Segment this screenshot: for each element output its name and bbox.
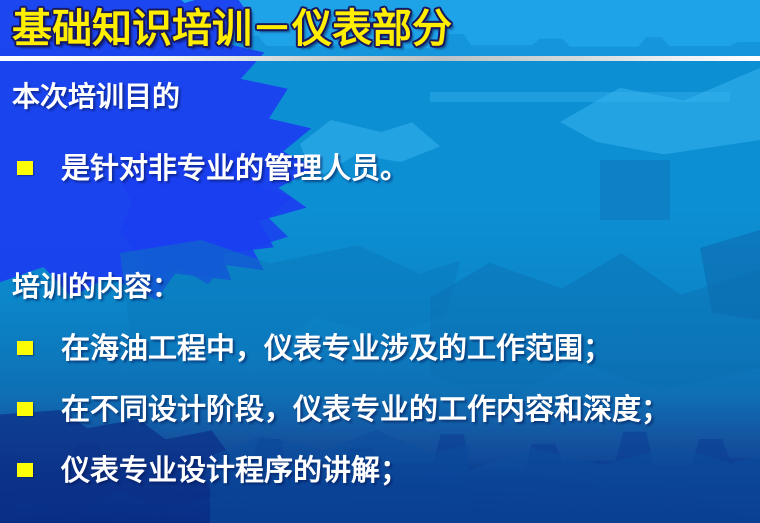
presentation-slide: 基础知识培训－仪表部分 本次培训目的 是针对非专业的管理人员。 培训的内容： 在… — [0, 0, 760, 523]
bullet-label: 在海油工程中，仪表专业涉及的工作范围； — [61, 331, 612, 365]
bullet-label: 仪表专业设计程序的讲解； — [61, 453, 409, 487]
section-heading-purpose: 本次培训目的 — [12, 80, 180, 114]
section-heading-content: 培训的内容： — [12, 270, 180, 304]
title-divider-rule — [0, 56, 760, 61]
background-patch-3 — [600, 160, 670, 220]
bullet-item-content-2: 在不同设计阶段，仪表专业的工作内容和深度； — [17, 392, 670, 426]
background-patch-2 — [560, 68, 760, 158]
slide-title: 基础知识培训－仪表部分 — [12, 6, 452, 52]
bullet-item-content-3: 仪表专业设计程序的讲解； — [17, 453, 409, 487]
bullet-label: 在不同设计阶段，仪表专业的工作内容和深度； — [61, 392, 670, 426]
bullet-item-content-1: 在海油工程中，仪表专业涉及的工作范围； — [17, 331, 612, 365]
bullet-square-icon — [17, 161, 33, 175]
bullet-square-icon — [17, 341, 33, 355]
bullet-label: 是针对非专业的管理人员。 — [61, 151, 409, 185]
bullet-square-icon — [17, 402, 33, 416]
bullet-item-purpose-1: 是针对非专业的管理人员。 — [17, 151, 409, 185]
bullet-square-icon — [17, 463, 33, 477]
